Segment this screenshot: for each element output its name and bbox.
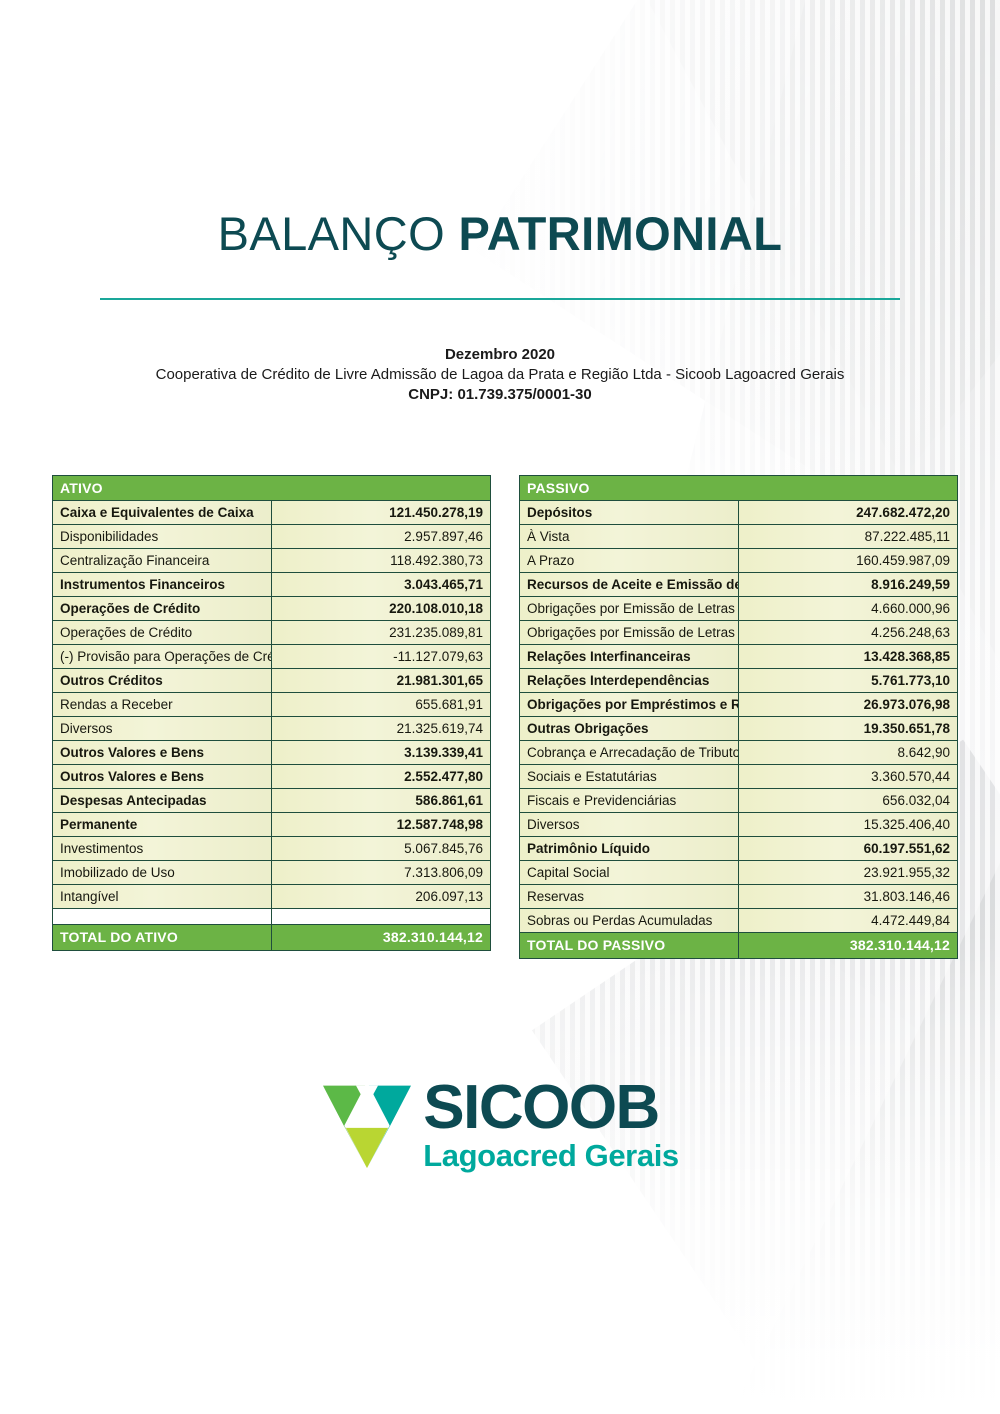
row-label: Obrigações por Emissão de Letras de LCA (520, 597, 739, 621)
row-label: Relações Interfinanceiras (520, 645, 739, 669)
brand-logo-text: SICOOB Lagoacred Gerais (423, 1078, 679, 1172)
table-row: Centralização Financeira118.492.380,73 (53, 549, 491, 573)
table-header-label: PASSIVO (520, 476, 958, 501)
row-label: Depósitos (520, 501, 739, 525)
brand-logo-inner: SICOOB Lagoacred Gerais (321, 1078, 679, 1172)
document-page: BALANÇO PATRIMONIAL Dezembro 2020 Cooper… (0, 0, 1000, 1414)
page-title-bold: PATRIMONIAL (459, 207, 783, 260)
row-value: 3.139.339,41 (272, 741, 491, 765)
row-label: Cobrança e Arrecadação de Tributos (520, 741, 739, 765)
row-label: A Prazo (520, 549, 739, 573)
row-value: 220.108.010,18 (272, 597, 491, 621)
liabilities-column: PASSIVODepósitos247.682.472,20À Vista87.… (519, 475, 958, 959)
table-row: Imobilizado de Uso7.313.806,09 (53, 861, 491, 885)
row-value: 15.325.406,40 (739, 813, 958, 837)
table-row: Fiscais e Previdenciárias656.032,04 (520, 789, 958, 813)
table-row: À Vista87.222.485,11 (520, 525, 958, 549)
total-value: 382.310.144,12 (739, 933, 958, 959)
total-value: 382.310.144,12 (272, 925, 491, 951)
row-value: 5.761.773,10 (739, 669, 958, 693)
row-value: 4.472.449,84 (739, 909, 958, 933)
page-title: BALANÇO PATRIMONIAL (0, 206, 1000, 261)
sicoob-triangle-icon (321, 1082, 413, 1170)
table-row: Permanente12.587.748,98 (53, 813, 491, 837)
row-label: Diversos (53, 717, 272, 741)
table-row: Outros Créditos21.981.301,65 (53, 669, 491, 693)
liabilities-table-body: PASSIVODepósitos247.682.472,20À Vista87.… (520, 476, 958, 959)
row-value: 8.916.249,59 (739, 573, 958, 597)
table-row: Disponibilidades2.957.897,46 (53, 525, 491, 549)
row-value: 26.973.076,98 (739, 693, 958, 717)
table-row: Diversos21.325.619,74 (53, 717, 491, 741)
assets-table: ATIVOCaixa e Equivalentes de Caixa121.45… (52, 475, 491, 951)
row-value: 2.957.897,46 (272, 525, 491, 549)
row-label: Obrigações por Emissão de Letras de LCI (520, 621, 739, 645)
row-value: 19.350.651,78 (739, 717, 958, 741)
table-row: Relações Interfinanceiras13.428.368,85 (520, 645, 958, 669)
row-value: 2.552.477,80 (272, 765, 491, 789)
table-row: Cobrança e Arrecadação de Tributos8.642,… (520, 741, 958, 765)
row-value: 31.803.146,46 (739, 885, 958, 909)
assets-table-body: ATIVOCaixa e Equivalentes de Caixa121.45… (53, 476, 491, 951)
row-value: 655.681,91 (272, 693, 491, 717)
table-row: Diversos15.325.406,40 (520, 813, 958, 837)
row-value: 118.492.380,73 (272, 549, 491, 573)
row-label: Outras Obrigações (520, 717, 739, 741)
row-label: Patrimônio Líquido (520, 837, 739, 861)
table-total-row: TOTAL DO ATIVO382.310.144,12 (53, 925, 491, 951)
row-value: 656.032,04 (739, 789, 958, 813)
bg-facet (475, 0, 1000, 556)
row-label: Intangível (53, 885, 272, 909)
row-label: Caixa e Equivalentes de Caixa (53, 501, 272, 525)
row-label: Rendas a Receber (53, 693, 272, 717)
table-header-label: ATIVO (53, 476, 491, 501)
title-divider (100, 298, 900, 300)
row-label: Sobras ou Perdas Acumuladas (520, 909, 739, 933)
row-label: (-) Provisão para Operações de Crédito (53, 645, 272, 669)
table-row: Patrimônio Líquido60.197.551,62 (520, 837, 958, 861)
table-row: Investimentos5.067.845,76 (53, 837, 491, 861)
table-spacer-cell (53, 909, 272, 925)
assets-column: ATIVOCaixa e Equivalentes de Caixa121.45… (52, 475, 491, 959)
row-label: Permanente (53, 813, 272, 837)
row-label: Capital Social (520, 861, 739, 885)
row-value: 87.222.485,11 (739, 525, 958, 549)
row-label: Outros Créditos (53, 669, 272, 693)
row-label: Despesas Antecipadas (53, 789, 272, 813)
table-row: Obrigações por Empréstimos e Repasses26.… (520, 693, 958, 717)
table-row: Outros Valores e Bens2.552.477,80 (53, 765, 491, 789)
table-row: Operações de Crédito231.235.089,81 (53, 621, 491, 645)
brand-name: SICOOB (423, 1078, 679, 1138)
row-value: 586.861,61 (272, 789, 491, 813)
report-period: Dezembro 2020 (0, 345, 1000, 365)
entity-name: Cooperativa de Crédito de Livre Admissão… (0, 365, 1000, 385)
row-label: Recursos de Aceite e Emissão de Títulos (520, 573, 739, 597)
table-spacer-cell (272, 909, 491, 925)
row-label: Imobilizado de Uso (53, 861, 272, 885)
table-row: A Prazo160.459.987,09 (520, 549, 958, 573)
row-value: 160.459.987,09 (739, 549, 958, 573)
table-row: Relações Interdependências5.761.773,10 (520, 669, 958, 693)
row-value: 4.256.248,63 (739, 621, 958, 645)
row-value: 5.067.845,76 (272, 837, 491, 861)
table-row: Capital Social23.921.955,32 (520, 861, 958, 885)
row-label: Outros Valores e Bens (53, 765, 272, 789)
row-label: Outros Valores e Bens (53, 741, 272, 765)
liabilities-table: PASSIVODepósitos247.682.472,20À Vista87.… (519, 475, 958, 959)
table-row: Obrigações por Emissão de Letras de LCI4… (520, 621, 958, 645)
row-label: Diversos (520, 813, 739, 837)
row-value: 3.043.465,71 (272, 573, 491, 597)
entity-cnpj: CNPJ: 01.739.375/0001-30 (0, 385, 1000, 405)
row-value: 7.313.806,09 (272, 861, 491, 885)
row-label: Fiscais e Previdenciárias (520, 789, 739, 813)
row-label: Reservas (520, 885, 739, 909)
bg-facet (687, 0, 1000, 547)
table-row: Instrumentos Financeiros3.043.465,71 (53, 573, 491, 597)
total-label: TOTAL DO PASSIVO (520, 933, 739, 959)
table-row: Sobras ou Perdas Acumuladas4.472.449,84 (520, 909, 958, 933)
row-value: 3.360.570,44 (739, 765, 958, 789)
brand-logo: SICOOB Lagoacred Gerais (0, 1078, 1000, 1172)
table-row: Despesas Antecipadas586.861,61 (53, 789, 491, 813)
row-value: 60.197.551,62 (739, 837, 958, 861)
table-row: Sociais e Estatutárias3.360.570,44 (520, 765, 958, 789)
row-value: 13.428.368,85 (739, 645, 958, 669)
table-row: (-) Provisão para Operações de Crédito-1… (53, 645, 491, 669)
row-label: Centralização Financeira (53, 549, 272, 573)
brand-unit: Lagoacred Gerais (423, 1140, 679, 1173)
table-spacer-row (53, 909, 491, 925)
row-value: 231.235.089,81 (272, 621, 491, 645)
row-label: Operações de Crédito (53, 621, 272, 645)
table-row: Operações de Crédito220.108.010,18 (53, 597, 491, 621)
row-label: À Vista (520, 525, 739, 549)
row-value: 4.660.000,96 (739, 597, 958, 621)
row-value: 206.097,13 (272, 885, 491, 909)
table-header-row: ATIVO (53, 476, 491, 501)
page-title-light: BALANÇO (218, 207, 445, 260)
table-row: Caixa e Equivalentes de Caixa121.450.278… (53, 501, 491, 525)
row-value: 21.981.301,65 (272, 669, 491, 693)
row-label: Obrigações por Empréstimos e Repasses (520, 693, 739, 717)
document-subtitle: Dezembro 2020 Cooperativa de Crédito de … (0, 345, 1000, 404)
table-row: Depósitos247.682.472,20 (520, 501, 958, 525)
row-label: Relações Interdependências (520, 669, 739, 693)
total-label: TOTAL DO ATIVO (53, 925, 272, 951)
table-total-row: TOTAL DO PASSIVO382.310.144,12 (520, 933, 958, 959)
row-label: Disponibilidades (53, 525, 272, 549)
table-header-row: PASSIVO (520, 476, 958, 501)
table-row: Intangível206.097,13 (53, 885, 491, 909)
table-row: Recursos de Aceite e Emissão de Títulos8… (520, 573, 958, 597)
row-label: Investimentos (53, 837, 272, 861)
table-row: Outros Valores e Bens3.139.339,41 (53, 741, 491, 765)
row-value: 12.587.748,98 (272, 813, 491, 837)
table-row: Obrigações por Emissão de Letras de LCA4… (520, 597, 958, 621)
balance-tables: ATIVOCaixa e Equivalentes de Caixa121.45… (52, 475, 958, 959)
table-row: Outras Obrigações19.350.651,78 (520, 717, 958, 741)
table-row: Rendas a Receber655.681,91 (53, 693, 491, 717)
row-label: Operações de Crédito (53, 597, 272, 621)
table-row: Reservas31.803.146,46 (520, 885, 958, 909)
row-label: Sociais e Estatutárias (520, 765, 739, 789)
row-value: 23.921.955,32 (739, 861, 958, 885)
row-value: -11.127.079,63 (272, 645, 491, 669)
row-label: Instrumentos Financeiros (53, 573, 272, 597)
row-value: 247.682.472,20 (739, 501, 958, 525)
row-value: 21.325.619,74 (272, 717, 491, 741)
row-value: 8.642,90 (739, 741, 958, 765)
row-value: 121.450.278,19 (272, 501, 491, 525)
